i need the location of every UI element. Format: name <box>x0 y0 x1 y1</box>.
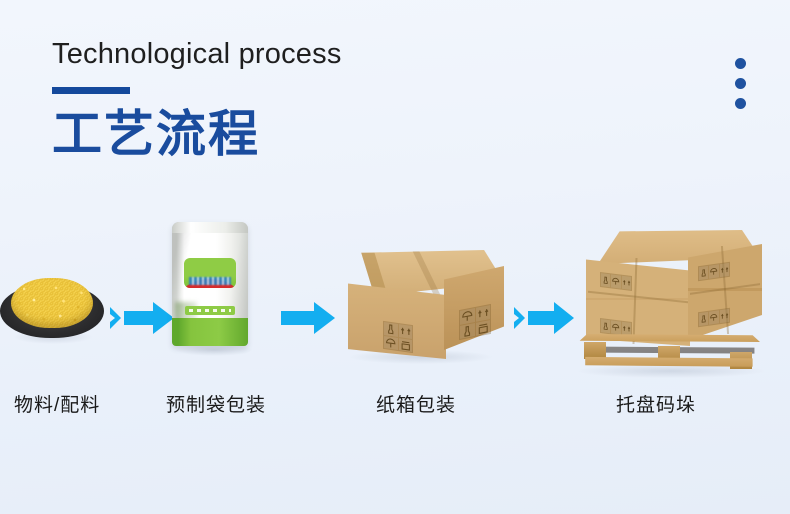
keep-dry-umbrella-icon <box>709 310 718 324</box>
dot-2 <box>735 78 746 89</box>
pouch-info-strip-text <box>189 309 231 312</box>
cardboard-carton-image <box>338 222 510 382</box>
pouch-graphic <box>172 222 248 346</box>
pouch-info-strip <box>185 306 235 315</box>
pouch-body <box>172 222 248 346</box>
vertical-dots-icon[interactable] <box>735 58 746 109</box>
page-title-cn: 工艺流程 <box>52 107 342 161</box>
granule-pile-shape <box>11 278 93 328</box>
pouch-label-text-block <box>189 277 231 285</box>
fragile-glass-icon <box>601 273 610 287</box>
stacking-limit-icon <box>399 338 413 352</box>
flow-stage-label-pouch: 预制袋包装 <box>166 390 286 417</box>
carton-graphic <box>338 250 504 364</box>
keep-dry-umbrella-icon <box>611 274 620 288</box>
flow-stage-pouch[interactable]: 预制袋包装 <box>166 222 286 417</box>
this-way-up-icon <box>622 276 631 290</box>
right-arrow-icon-2 <box>281 300 337 336</box>
flow-stage-label-pallet: 托盘码垛 <box>572 390 778 417</box>
flow-stage-pallet[interactable]: 托盘码垛 <box>572 222 778 417</box>
fragile-glass-icon <box>699 266 708 280</box>
right-arrow-icon-3 <box>514 300 576 336</box>
pouch-top-seal <box>172 222 248 233</box>
fragile-glass-icon <box>384 322 398 336</box>
plate-with-granules <box>0 278 104 340</box>
pouch-bottom-band <box>172 318 248 346</box>
stand-up-pouch-image <box>166 222 286 382</box>
this-way-up-icon <box>720 263 729 277</box>
flow-stage-carton[interactable]: 纸箱包装 <box>338 222 510 417</box>
pallet-block-left <box>584 342 606 359</box>
fragile-glass-icon <box>699 312 708 326</box>
flow-stage-label-material: 物料/配料 <box>0 390 150 417</box>
keep-dry-umbrella-icon <box>709 264 718 278</box>
fragile-glass-icon <box>601 319 610 333</box>
process-flow-banner: Technological process 工艺流程 物料/配料 <box>0 0 790 514</box>
fragile-glass-icon <box>460 323 475 339</box>
stacking-limit-icon <box>476 320 491 336</box>
pallet-stack-image <box>572 222 778 382</box>
pallet-graphic <box>572 230 768 376</box>
this-way-up-icon <box>399 324 413 338</box>
page-title-en: Technological process <box>52 40 342 69</box>
pouch-front-label-panel <box>184 258 236 288</box>
dot-1 <box>735 58 746 69</box>
flow-stage-label-carton: 纸箱包装 <box>338 390 510 417</box>
wooden-pallet <box>572 334 768 380</box>
shipping-symbols-side <box>459 304 491 340</box>
keep-dry-umbrella-icon <box>384 336 398 350</box>
keep-dry-umbrella-icon <box>611 320 620 334</box>
shipping-symbols-front <box>383 321 413 353</box>
header: Technological process 工艺流程 <box>52 40 342 161</box>
process-flow: 物料/配料 <box>0 222 790 452</box>
dot-3 <box>735 98 746 109</box>
title-underline-rule <box>52 87 130 94</box>
this-way-up-icon <box>720 309 729 323</box>
